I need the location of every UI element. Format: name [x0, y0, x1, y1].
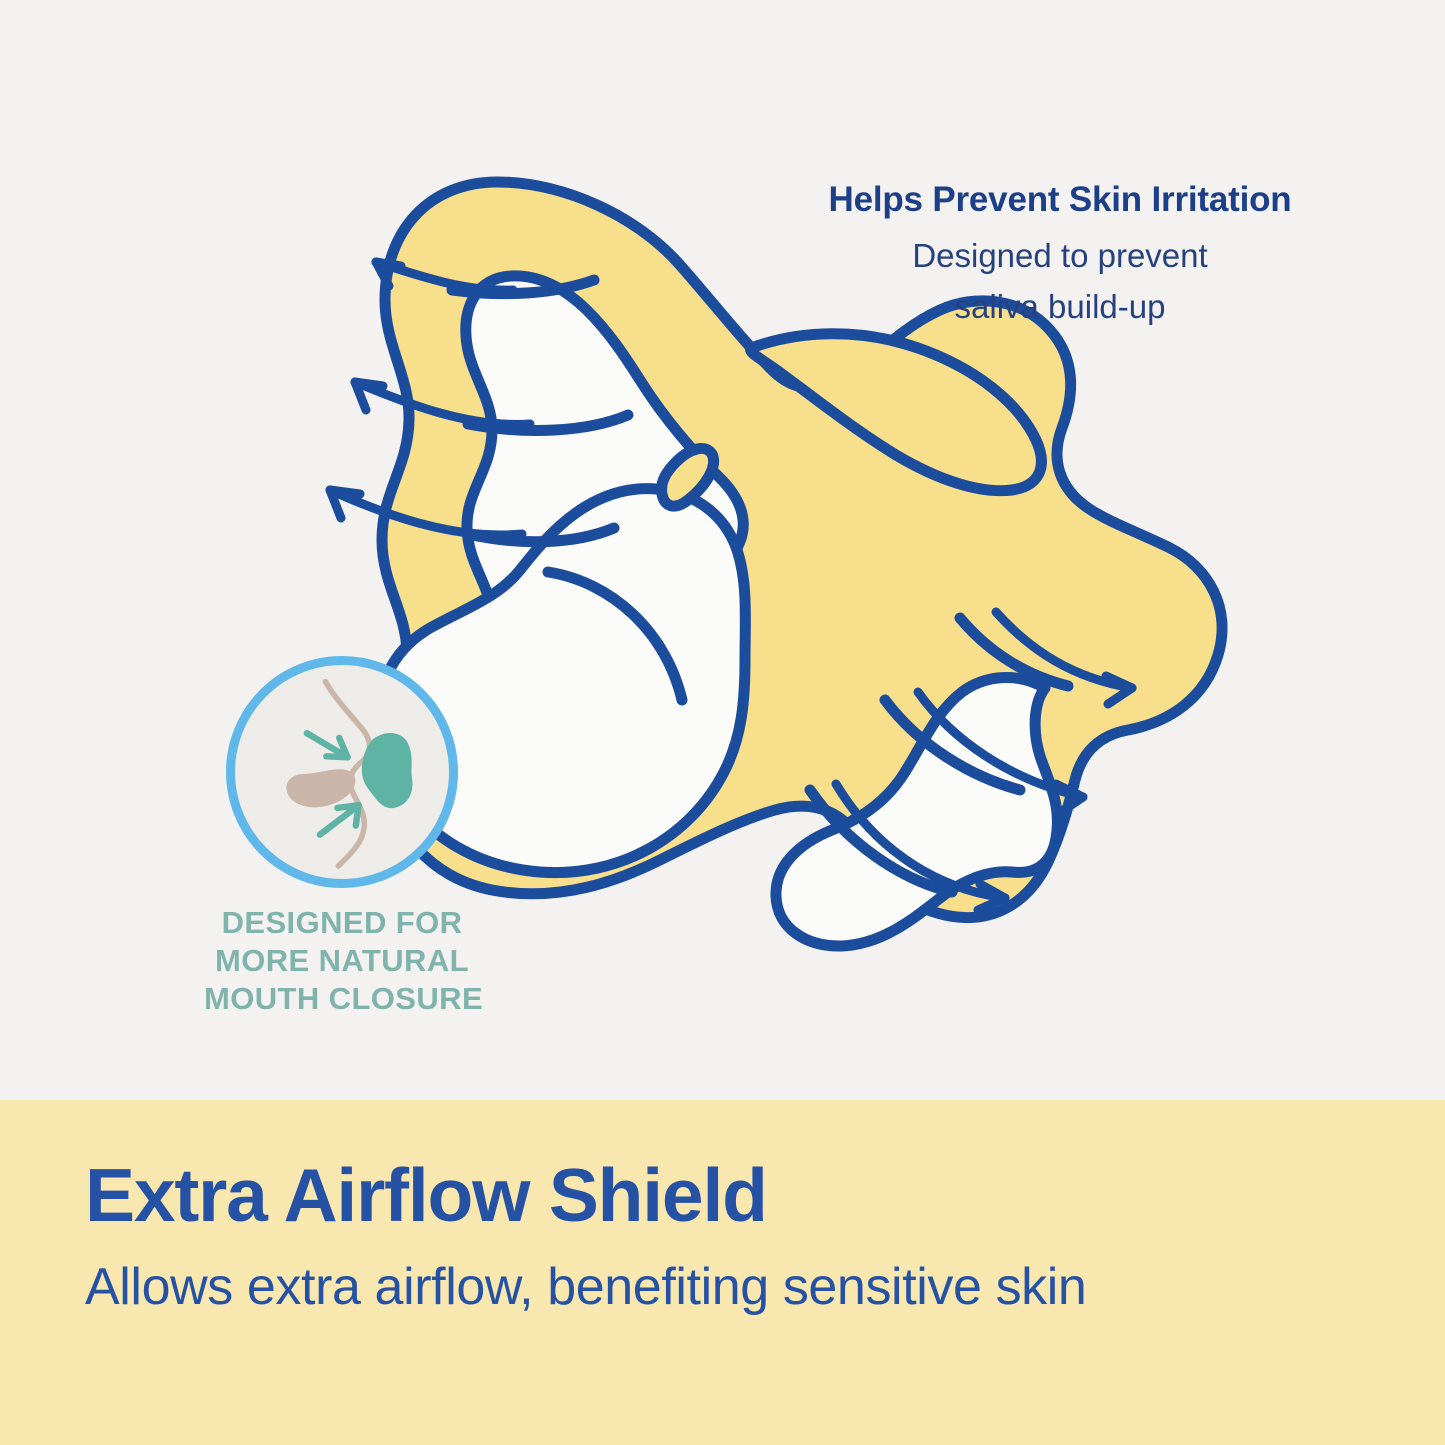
mouth-closure-icon: [226, 656, 458, 888]
banner-title: Extra Airflow Shield: [85, 1158, 767, 1233]
inset-caption-line-2: MORE NATURAL: [204, 942, 480, 980]
illustration-area: Helps Prevent Skin Irritation Designed t…: [0, 0, 1445, 1100]
inset-caption-line-3: MOUTH CLOSURE: [204, 980, 480, 1018]
infographic-page: Helps Prevent Skin Irritation Designed t…: [0, 0, 1445, 1445]
inset-callout: DESIGNED FOR MORE NATURAL MOUTH CLOSURE: [226, 656, 466, 1017]
callout-subline-2: saliva build-up: [760, 281, 1360, 332]
banner-subtitle: Allows extra airflow, benefiting sensiti…: [85, 1258, 1086, 1318]
inset-arrow-lower: [320, 805, 359, 835]
callout-subline-1: Designed to prevent: [760, 230, 1360, 281]
inset-caption-line-1: DESIGNED FOR: [204, 904, 480, 942]
callout-headline: Helps Prevent Skin Irritation: [760, 180, 1360, 220]
inset-arrow-upper: [307, 733, 348, 757]
callout-skin-irritation: Helps Prevent Skin Irritation Designed t…: [760, 180, 1360, 333]
tongue-shape: [286, 769, 355, 807]
inset-caption: DESIGNED FOR MORE NATURAL MOUTH CLOSURE: [204, 904, 480, 1017]
teat-shape: [362, 733, 413, 808]
